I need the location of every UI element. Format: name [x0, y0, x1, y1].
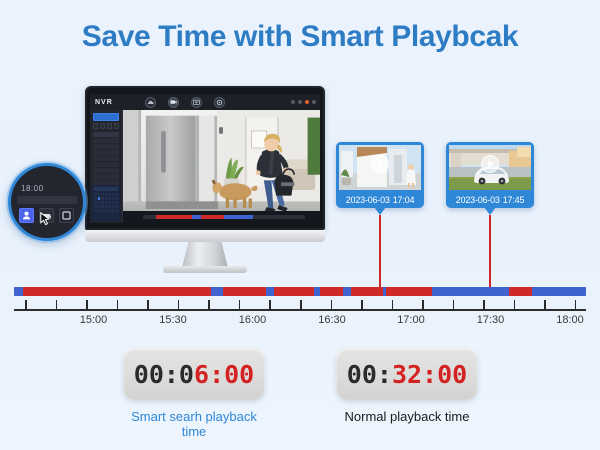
timeline-tick	[178, 300, 180, 309]
monitor-screen: NVR	[90, 94, 320, 223]
rewind-icon[interactable]	[126, 216, 129, 219]
calendar-day[interactable]	[101, 209, 104, 212]
counter-prefix: 00:	[347, 360, 392, 389]
calendar-header	[94, 187, 118, 191]
calendar-grid[interactable]	[94, 193, 118, 212]
playback-extra-controls[interactable]	[309, 216, 317, 219]
grid-9-icon[interactable]	[107, 123, 112, 129]
grid-16-icon[interactable]	[114, 123, 119, 129]
timeline-label: 17:00	[397, 314, 425, 326]
counter-highlight: 6	[194, 360, 209, 389]
sidebar-primary-button[interactable]	[93, 113, 119, 121]
play-circle-icon[interactable]	[481, 155, 499, 173]
timeline-tick	[300, 300, 302, 309]
scrubber-idle-segment	[224, 215, 253, 219]
thumbnail-time: 17:45	[503, 195, 525, 205]
nvr-playback-bar[interactable]	[123, 211, 320, 223]
calendar-day[interactable]	[105, 205, 108, 208]
timeline-tick	[575, 300, 577, 309]
calendar-day[interactable]	[112, 193, 115, 196]
timeline-tick	[453, 300, 455, 309]
timeline-label: 16:30	[318, 314, 346, 326]
thumbnail-timestamp: 2023-06-03 17:04	[336, 191, 424, 208]
thumbnail-date: 2023-06-03	[346, 195, 390, 205]
playback-scrubber[interactable]	[143, 215, 305, 219]
calendar-day[interactable]	[112, 197, 115, 200]
event-leader-line	[379, 215, 381, 289]
calendar-picker[interactable]	[92, 185, 120, 221]
monitor-stand-base	[163, 266, 247, 273]
calendar-day-selected[interactable]	[98, 197, 101, 200]
calendar-day[interactable]	[115, 209, 118, 212]
nvr-monitor: NVR	[85, 86, 325, 282]
timeline-tick	[56, 300, 58, 309]
timeline-tick	[483, 300, 485, 309]
mouse-pointer-icon	[40, 212, 50, 226]
timeline-event-segment	[23, 287, 212, 296]
snapshot-icon[interactable]	[314, 216, 317, 219]
event-thumbnail-vehicle[interactable]: 2023-06-03 17:45	[446, 142, 534, 208]
calendar-day[interactable]	[94, 193, 97, 196]
timeline-tick	[392, 300, 394, 309]
monitor-stand-neck	[182, 242, 228, 268]
calendar-day[interactable]	[115, 205, 118, 208]
timeline-event-segment	[509, 287, 532, 296]
timeline-tick	[147, 300, 149, 309]
event-leader-line	[489, 215, 491, 289]
calendar-day[interactable]	[115, 193, 118, 196]
thumbnail-timestamp: 2023-06-03 17:45	[446, 191, 534, 208]
calendar-day[interactable]	[94, 205, 97, 208]
counter-digits: 00:06:00	[134, 360, 254, 389]
calendar-day[interactable]	[105, 201, 108, 204]
event-thumbnail-person[interactable]: 2023-06-03 17:04	[336, 142, 424, 208]
channel-list-item[interactable]	[93, 174, 119, 179]
recording-timeline[interactable]: 15:0015:3016:0016:3017:0017:3018:00	[14, 287, 586, 330]
timeline-label: 16:00	[239, 314, 267, 326]
timeline-tick	[25, 300, 27, 309]
calendar-day[interactable]	[98, 209, 101, 212]
counter-digits: 00:32:00	[347, 360, 467, 389]
scrubber-idle-segment	[192, 215, 202, 219]
thumbnail-time: 17:04	[393, 195, 415, 205]
calendar-day[interactable]	[94, 197, 97, 200]
thumbnail-card[interactable]: 2023-06-03 17:45	[446, 142, 534, 208]
channel-list-item[interactable]	[93, 138, 119, 143]
calendar-day[interactable]	[98, 205, 101, 208]
infographic-canvas: Save Time with Smart Playbcak NVR	[0, 0, 600, 450]
cloud-icon[interactable]	[145, 97, 156, 108]
person-filter-icon[interactable]	[19, 208, 34, 223]
minimize-icon[interactable]	[291, 100, 295, 104]
calendar-day[interactable]	[112, 201, 115, 204]
settings-icon[interactable]	[214, 97, 225, 108]
calendar-day[interactable]	[105, 197, 108, 200]
nvr-logo: NVR	[95, 99, 113, 106]
calendar-day[interactable]	[108, 197, 111, 200]
timeline-tick	[117, 300, 119, 309]
calendar-day[interactable]	[98, 201, 101, 204]
calendar-day[interactable]	[105, 193, 108, 196]
calendar-day[interactable]	[101, 205, 104, 208]
calendar-day[interactable]	[112, 209, 115, 212]
channel-list-item[interactable]	[93, 150, 119, 155]
calendar-day[interactable]	[101, 197, 104, 200]
calendar-day[interactable]	[108, 193, 111, 196]
timeline-label: 15:30	[159, 314, 187, 326]
timeline-event-segment	[386, 287, 432, 296]
monitor-bezel: NVR	[85, 86, 325, 230]
sidebar-view-icons[interactable]	[90, 123, 122, 131]
thumbnail-pointer-tail	[484, 207, 496, 215]
calendar-day[interactable]	[108, 201, 111, 204]
play-icon[interactable]	[131, 216, 134, 219]
channel-list-item[interactable]	[93, 168, 119, 173]
calendar-day[interactable]	[105, 209, 108, 212]
magnifier-timeline-strip	[17, 196, 77, 204]
timeline-tick	[514, 300, 516, 309]
timeline-event-segment	[351, 287, 382, 296]
timeline-tick	[239, 300, 241, 309]
thumbnail-card[interactable]: 2023-06-03 17:04	[336, 142, 424, 208]
thumbnail-date: 2023-06-03	[456, 195, 500, 205]
channel-list-item[interactable]	[93, 156, 119, 161]
nvr-titlebar: NVR	[90, 94, 320, 110]
scrubber-event-segment	[201, 215, 224, 219]
empty-filter-checkbox[interactable]	[59, 208, 74, 223]
counter-lcd-panel: 00:32:00	[336, 348, 478, 400]
timeline-ticks	[14, 296, 586, 309]
grid-1-icon[interactable]	[93, 123, 98, 129]
timeline-activity-bar[interactable]	[14, 287, 586, 296]
counter-highlight: 32	[392, 360, 422, 389]
maximize-icon[interactable]	[298, 100, 302, 104]
calendar-day[interactable]	[98, 193, 101, 196]
thumbnail-pointer-tail	[374, 207, 386, 215]
counter-prefix: 00:0	[134, 360, 194, 389]
close-icon[interactable]	[312, 100, 316, 104]
doorway-scene-illustration	[123, 110, 320, 211]
nvr-toolbar[interactable]	[145, 97, 225, 108]
calendar-day[interactable]	[115, 197, 118, 200]
camera-icon[interactable]	[168, 97, 179, 108]
timeline-labels: 15:0015:3016:0016:3017:0017:3018:00	[14, 314, 586, 330]
calendar-day[interactable]	[94, 201, 97, 204]
monitor-chin	[85, 230, 325, 242]
counter-suffix: :00	[422, 360, 467, 389]
play-circle-icon[interactable]	[371, 155, 389, 173]
window-buttons[interactable]	[291, 100, 316, 104]
timeline-tick	[544, 300, 546, 309]
calendar-day[interactable]	[108, 205, 111, 208]
calendar-day[interactable]	[115, 201, 118, 204]
normal-playback-counter: 00:32:00 Normal playback time	[336, 348, 478, 424]
alert-icon[interactable]	[305, 100, 309, 104]
magnifier-time-label: 18:00	[21, 184, 44, 193]
snapshot-icon[interactable]	[191, 97, 202, 108]
playback-controls[interactable]	[126, 216, 139, 219]
channel-list-item[interactable]	[93, 132, 119, 137]
timeline-tick	[422, 300, 424, 309]
page-title: Save Time with Smart Playbcak	[0, 20, 600, 54]
calendar-day[interactable]	[108, 209, 111, 212]
counter-suffix: :00	[209, 360, 254, 389]
grid-4-icon[interactable]	[100, 123, 105, 129]
timeline-tick	[361, 300, 363, 309]
nvr-sidebar[interactable]	[90, 110, 123, 223]
calendar-day[interactable]	[101, 201, 104, 204]
timeline-label: 17:30	[477, 314, 505, 326]
stop-icon[interactable]	[309, 216, 312, 219]
channel-list-item[interactable]	[93, 144, 119, 149]
timeline-event-segment	[223, 287, 266, 296]
counter-caption: Normal playback time	[336, 409, 478, 424]
smart-search-filter-magnifier: 18:00	[8, 163, 86, 241]
forward-icon[interactable]	[136, 216, 139, 219]
timeline-axis	[14, 309, 586, 311]
calendar-day[interactable]	[94, 209, 97, 212]
smart-search-playback-counter: 00:06:00 Smart searh playback time	[123, 348, 265, 439]
timeline-tick	[269, 300, 271, 309]
live-video-feed[interactable]	[123, 110, 320, 211]
calendar-day[interactable]	[112, 205, 115, 208]
timeline-tick	[86, 300, 88, 309]
timeline-label: 18:00	[556, 314, 584, 326]
timeline-event-segment	[320, 287, 343, 296]
timeline-tick	[208, 300, 210, 309]
calendar-day[interactable]	[101, 193, 104, 196]
timeline-event-segment	[274, 287, 314, 296]
timeline-tick	[331, 300, 333, 309]
scrubber-event-segment	[156, 215, 192, 219]
counter-caption: Smart searh playback time	[123, 409, 265, 439]
counter-lcd-panel: 00:06:00	[123, 348, 265, 400]
timeline-label: 15:00	[80, 314, 108, 326]
channel-list-item[interactable]	[93, 162, 119, 167]
